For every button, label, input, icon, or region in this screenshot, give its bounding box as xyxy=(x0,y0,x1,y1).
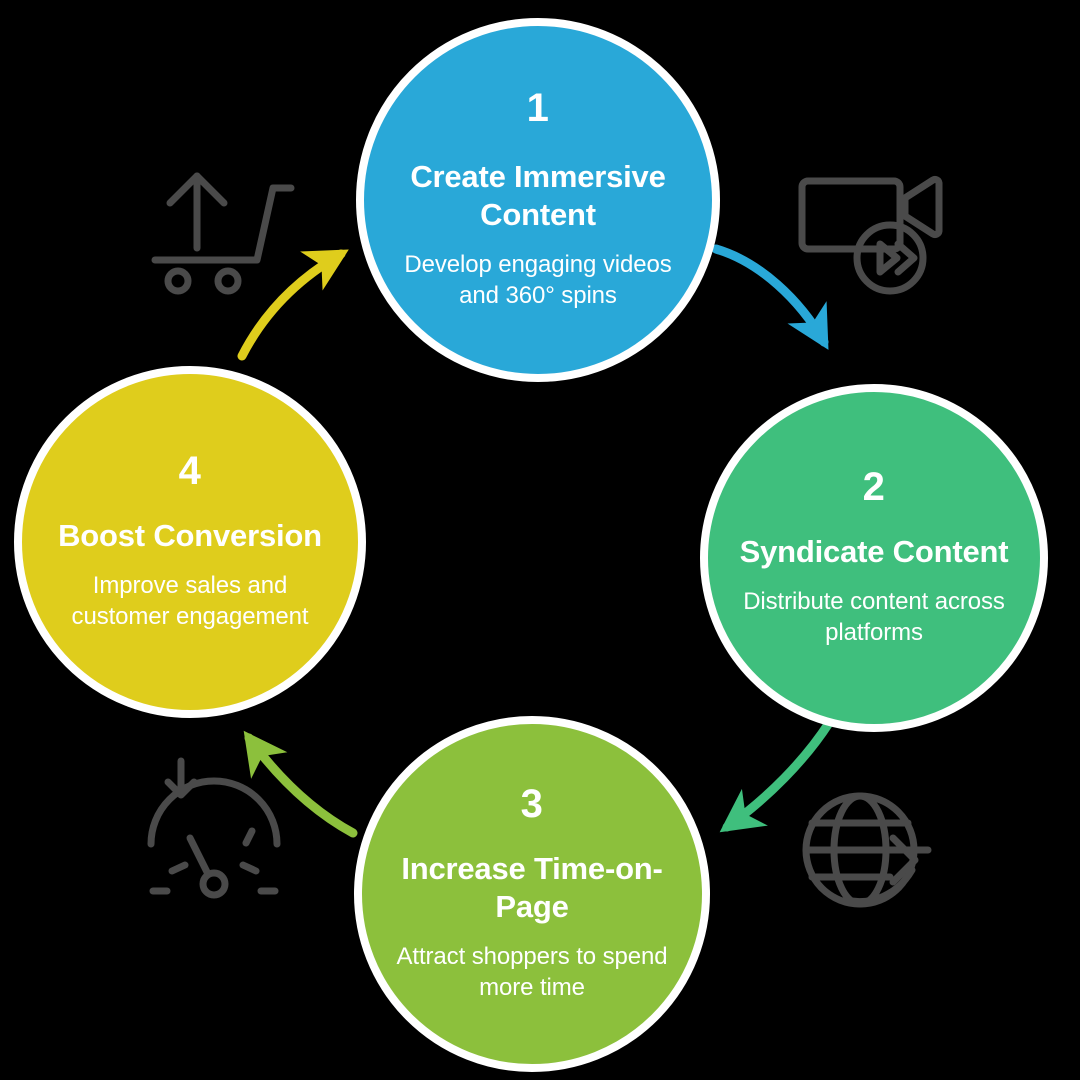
globe-arrow-icon xyxy=(806,796,928,904)
step-number-2: 2 xyxy=(863,467,886,507)
step-circle-2[interactable]: 2 Syndicate Content Distribute content a… xyxy=(700,384,1048,732)
step-circle-1[interactable]: 1 Create Immersive Content Develop engag… xyxy=(356,18,720,382)
step-circle-4[interactable]: 4 Boost Conversion Improve sales and cus… xyxy=(14,366,366,718)
step-title-2: Syndicate Content xyxy=(740,533,1009,571)
step-title-4: Boost Conversion xyxy=(58,517,322,555)
diagram-canvas: 1 Create Immersive Content Develop engag… xyxy=(0,0,1080,1080)
arrow-2-to-3 xyxy=(727,723,829,827)
arrow-1-to-2 xyxy=(716,249,824,342)
step-title-1: Create Immersive Content xyxy=(390,158,686,234)
video-camera-play-icon xyxy=(802,179,939,291)
speedometer-down-arrow-icon xyxy=(151,761,277,895)
step-circle-3[interactable]: 3 Increase Time-on-Page Attract shoppers… xyxy=(354,716,710,1072)
step-number-4: 4 xyxy=(179,451,202,491)
step-description-2: Distribute content across platforms xyxy=(734,587,1014,648)
shopping-cart-up-arrow-icon xyxy=(155,176,291,291)
step-description-3: Attract shoppers to spend more time xyxy=(388,942,676,1003)
step-number-3: 3 xyxy=(521,784,544,824)
step-number-1: 1 xyxy=(527,88,550,128)
arrow-3-to-4 xyxy=(249,738,353,833)
step-description-4: Improve sales and customer engagement xyxy=(48,571,332,632)
step-title-3: Increase Time-on-Page xyxy=(388,850,676,926)
arrow-4-to-1 xyxy=(242,254,341,356)
step-description-1: Develop engaging videos and 360° spins xyxy=(390,250,686,311)
